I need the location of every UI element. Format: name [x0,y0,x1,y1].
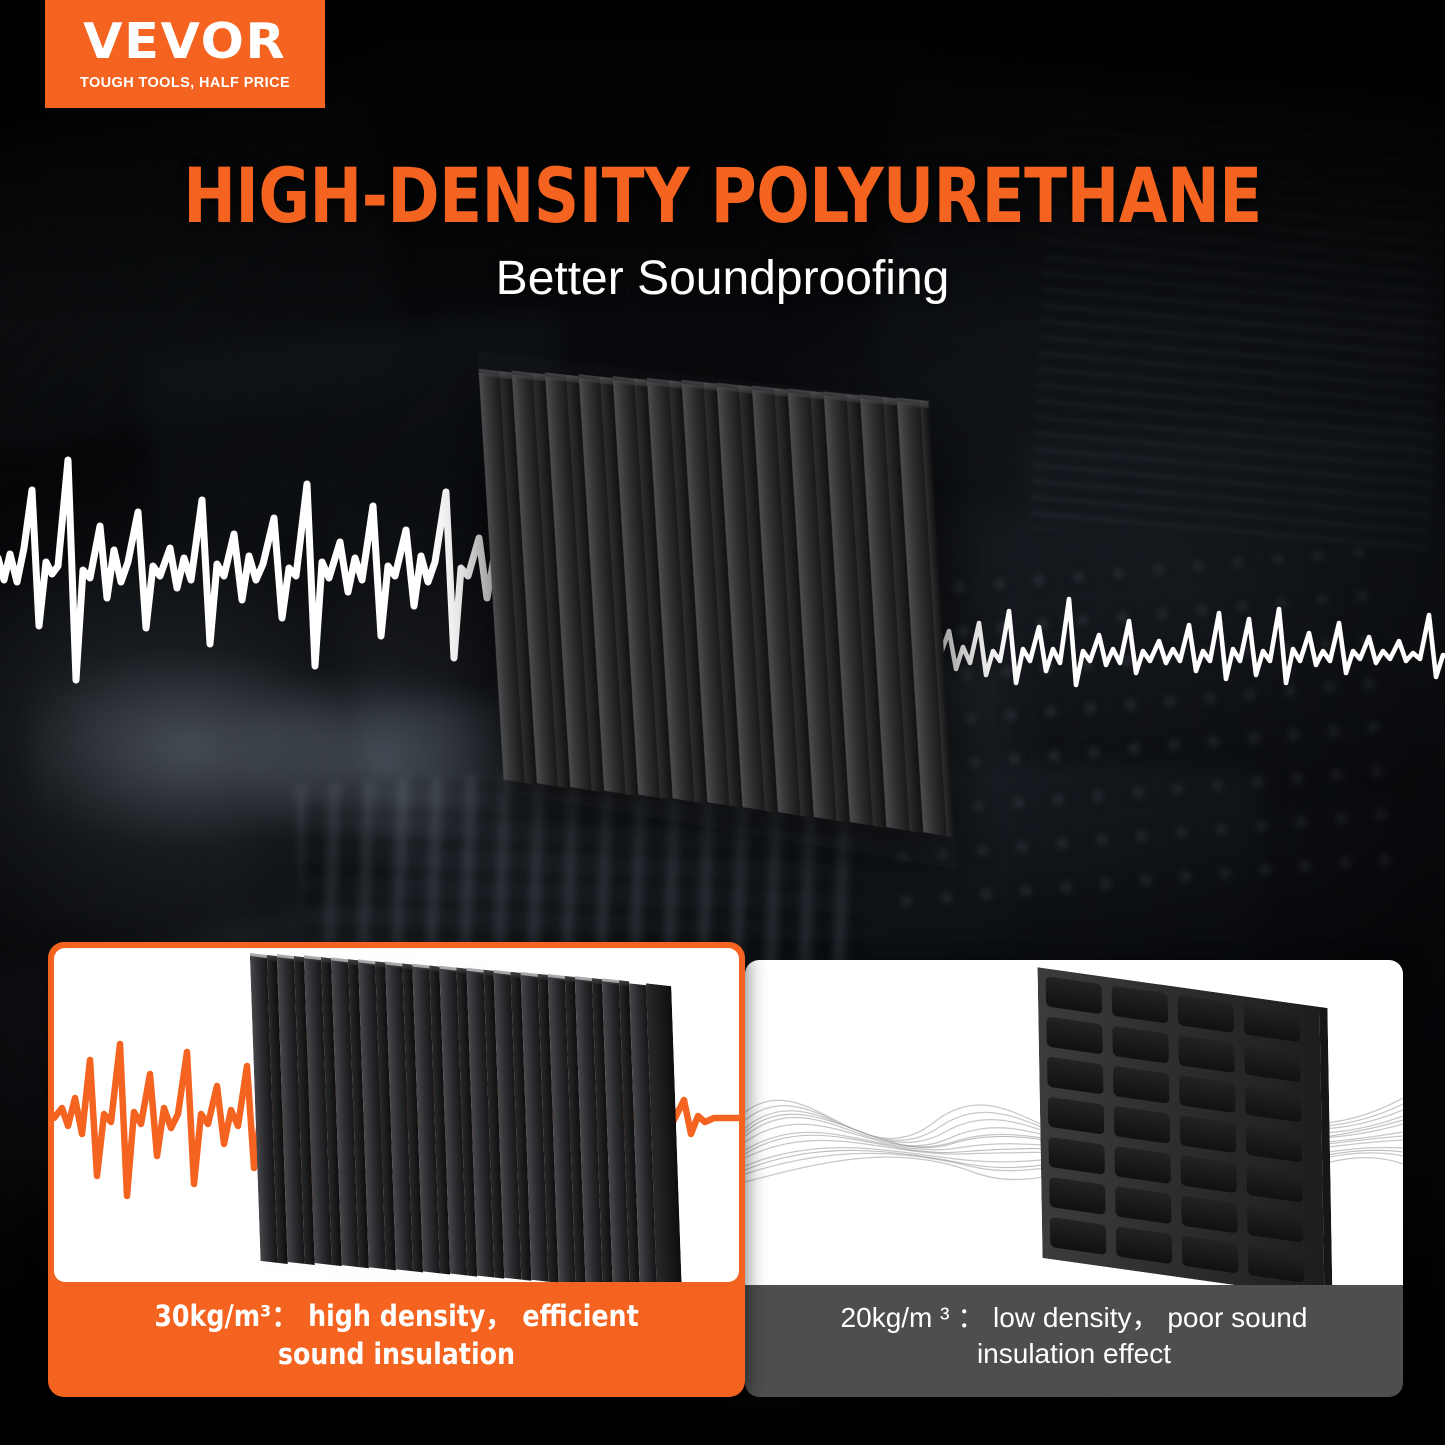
high-density-caption: 30kg/m³： high density， efficient sound i… [58,1282,734,1397]
high-density-caption-line1: 30kg/m³： high density， efficient [154,1299,638,1333]
logo-wordmark: VEVOR [83,17,286,66]
low-density-caption-line2: insulation effect [977,1338,1171,1369]
logo-tagline: TOUGH TOOLS, HALF PRICE [80,75,290,91]
page-title: HIGH-DENSITY POLYURETHANE [58,158,1387,234]
foam-wedge-icon-high-density [249,948,682,1282]
low-density-illustration [745,960,1403,1285]
high-density-illustration [54,948,739,1282]
comparison-panel-high-density: 30kg/m³： high density， efficient sound i… [48,942,745,1397]
page-subtitle: Better Soundproofing [0,253,1445,306]
foam-wedge-icon-hero [478,351,958,869]
waveform-icon-hero-out [905,565,1445,720]
low-density-caption: 20kg/m ³ ： low density， poor sound insul… [745,1285,1403,1397]
vevor-logo: VEVOR TOUGH TOOLS, HALF PRICE [45,0,325,108]
comparison-panel-low-density: 20kg/m ³ ： low density， poor sound insul… [745,960,1403,1397]
foam-grid-icon-low-density [1037,967,1332,1285]
low-density-caption-line1: 20kg/m ³ ： low density， poor sound [841,1302,1308,1333]
high-density-caption-line2: sound insulation [278,1337,515,1371]
